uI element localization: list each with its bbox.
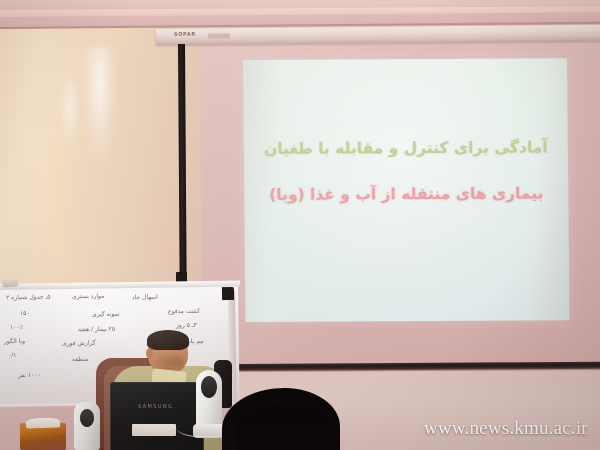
laptop-brand-label: SAMSUNG — [138, 404, 173, 410]
slide-content: آمادگی برای کنترل و مقابله با طغیان بیما… — [243, 58, 570, 322]
whiteboard-note: ۱۰۰٪ — [10, 324, 23, 331]
whiteboard-note: نمونه گیری — [92, 311, 120, 318]
projection-screen: آمادگی برای کنترل و مقابله با طغیان بیما… — [243, 58, 570, 322]
whiteboard-ledge-object — [2, 277, 19, 287]
presenter-hair — [147, 330, 189, 350]
site-watermark: www.news.kmu.ac.ir — [424, 418, 588, 440]
foreground-attendee-shoulder — [236, 404, 332, 450]
photo-scene: آمادگی برای کنترل و مقابله با طغیان بیما… — [0, 0, 600, 450]
whiteboard-note: اسهال حاد — [132, 294, 158, 301]
slide-title-line-1: آمادگی برای کنترل و مقابله با طغیان — [244, 138, 568, 158]
wall-glare-secondary — [60, 80, 80, 150]
whiteboard-note: ۱۵۰ — [20, 310, 30, 317]
laptop-sticker — [132, 424, 176, 436]
speaker-right-grille — [201, 376, 217, 398]
whiteboard-note: ۲۵ بیمار / هفته — [78, 326, 115, 334]
whiteboard-note: ۵ـ جدول شماره ۲ — [6, 294, 51, 302]
roller-plate — [208, 33, 230, 38]
whiteboard-note: گزارش فوری — [62, 340, 96, 348]
wall-glare — [82, 48, 118, 168]
whiteboard-corner-bracket — [222, 287, 234, 300]
projector-brand-label: SOPAR — [174, 32, 196, 38]
whiteboard-note: موارد بستری — [72, 293, 104, 301]
speaker-left-grille — [80, 409, 94, 427]
whiteboard-note: ۱۰۰۰ نفر — [18, 372, 41, 379]
whiteboard-note: ۰/۱ — [8, 352, 17, 359]
whiteboard-note: کشت مدفوع — [168, 308, 200, 316]
whiteboard-note: وبا الگور — [4, 338, 25, 345]
slide-title-line-2: بیماری های منتقله از آب و غذا (وبا) — [244, 184, 568, 204]
whiteboard-note: منطقه — [72, 356, 88, 363]
tissue-sheet — [26, 417, 60, 428]
whiteboard-note: ۳ـ ۵ روز — [176, 322, 197, 329]
